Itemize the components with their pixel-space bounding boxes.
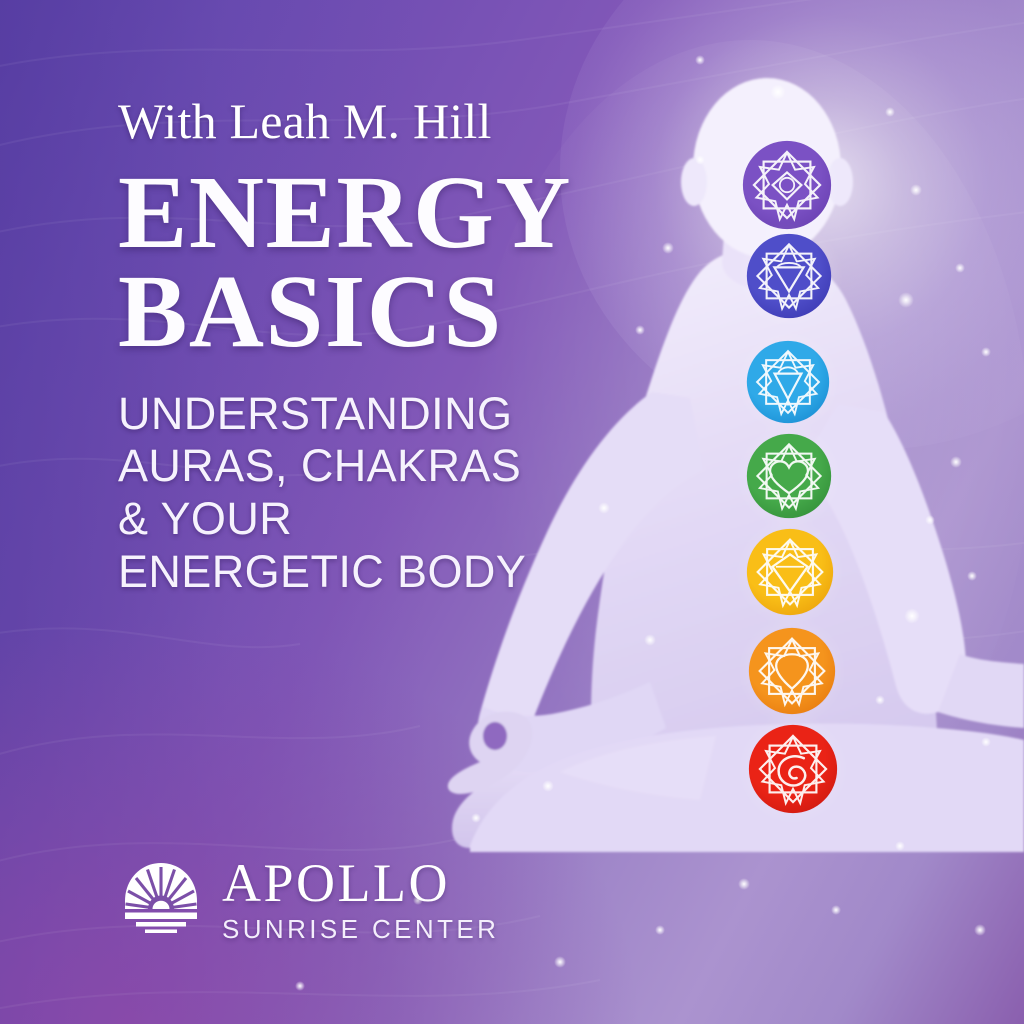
sparkle [662,242,675,255]
subtitle: UNDERSTANDING AURAS, CHAKRAS & YOUR ENER… [118,388,638,599]
solar-plexus-chakra [746,528,834,616]
brand-logo: APOLLO SUNRISE CENTER [118,856,499,942]
sparkle [695,55,705,65]
sparkle [738,878,751,891]
sparkle [955,263,965,273]
subtitle-line-2: AURAS, CHAKRAS [118,440,638,493]
sparkle [898,292,914,308]
subtitle-line-4: ENERGETIC BODY [118,546,638,599]
sparkle [554,956,567,969]
brand-tagline: SUNRISE CENTER [222,916,499,942]
sparkle [875,695,885,705]
sparkle [981,737,991,747]
brand-name: APOLLO [222,856,499,910]
sunrise-rays-icon [118,859,204,939]
byline: With Leah M. Hill [118,96,638,146]
brand-wordmark: APOLLO SUNRISE CENTER [222,856,499,942]
subtitle-line-3: & YOUR [118,493,638,546]
headline-block: With Leah M. Hill ENERGY BASICS UNDERSTA… [118,96,638,598]
sparkle [974,924,987,937]
sparkle [655,925,665,935]
crown-chakra [742,140,832,230]
sparkle [471,813,481,823]
page-title: ENERGY BASICS [118,164,638,362]
heart-chakra [746,433,832,519]
title-line-2: BASICS [118,263,638,362]
sparkle [542,780,555,793]
sparkle [967,571,977,581]
sparkle [831,905,841,915]
title-line-1: ENERGY [118,155,572,270]
sparkle [904,608,920,624]
sparkle [644,634,657,647]
root-chakra [748,724,838,814]
sparkle [895,841,905,851]
sparkle [950,456,963,469]
sparkle [885,107,895,117]
sparkle [770,84,786,100]
sparkle [981,347,991,357]
subtitle-line-1: UNDERSTANDING [118,388,638,441]
sparkle [695,155,705,165]
throat-chakra [746,340,830,424]
sparkle [295,981,305,991]
sparkle [925,515,935,525]
sparkle [910,184,923,197]
poster-canvas: With Leah M. Hill ENERGY BASICS UNDERSTA… [0,0,1024,1024]
sacral-chakra [748,627,836,715]
third-eye-chakra [746,233,832,319]
